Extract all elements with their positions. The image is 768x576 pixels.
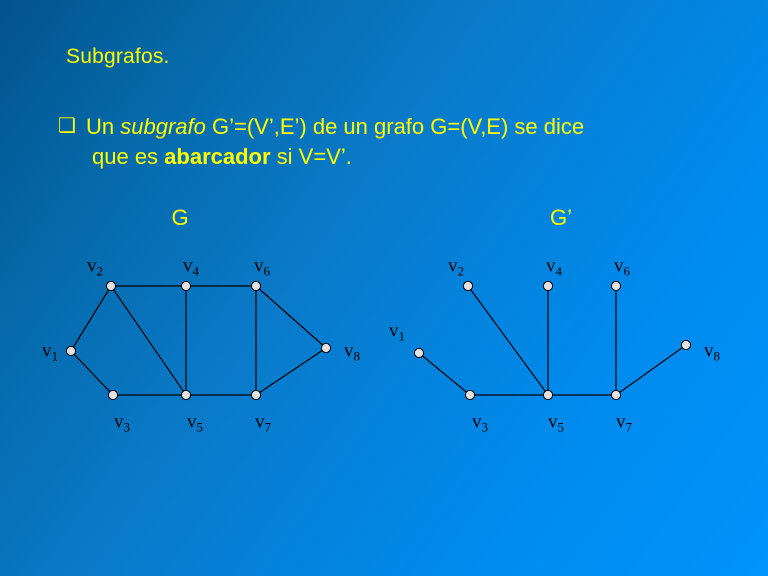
- node-label-subscript: 1: [52, 348, 59, 363]
- node-label-subscript: 5: [558, 419, 565, 434]
- graph-G-caption: G: [171, 207, 188, 229]
- graph-node-v2[interactable]: [463, 281, 472, 290]
- node-label-v1: v1: [42, 342, 58, 361]
- node-label-subscript: 7: [265, 419, 272, 434]
- graph-node-v3[interactable]: [108, 390, 117, 399]
- node-label-v2: v2: [87, 257, 103, 276]
- node-label-v7: v7: [255, 413, 271, 432]
- node-label-base: v: [548, 412, 558, 433]
- graph-node-v8[interactable]: [321, 343, 330, 352]
- graph-node-v5[interactable]: [181, 390, 190, 399]
- graph-edge: [71, 351, 113, 395]
- node-label-v4: v4: [546, 257, 562, 276]
- graph-G-prime-nodes: [414, 281, 690, 399]
- graph-node-v6[interactable]: [251, 281, 260, 290]
- graph-node-v1[interactable]: [414, 348, 423, 357]
- node-label-subscript: 7: [626, 419, 633, 434]
- node-label-base: v: [472, 412, 482, 433]
- node-label-v6: v6: [614, 257, 630, 276]
- graph-node-v1[interactable]: [66, 346, 75, 355]
- graph-node-v8[interactable]: [681, 340, 690, 349]
- node-label-base: v: [255, 412, 265, 433]
- graph-edge: [111, 286, 186, 395]
- graph-node-v6[interactable]: [611, 281, 620, 290]
- node-label-base: v: [448, 256, 458, 277]
- graph-layer: Gv1v2v3v4v5v6v7v8G’v1v2v3v4v5v6v7v8: [0, 0, 768, 576]
- node-label-v3: v3: [472, 413, 488, 432]
- node-label-v6: v6: [254, 257, 270, 276]
- node-label-v5: v5: [187, 413, 203, 432]
- node-label-subscript: 1: [399, 328, 406, 343]
- graph-node-v4[interactable]: [181, 281, 190, 290]
- graph-node-v5[interactable]: [543, 390, 552, 399]
- node-label-subscript: 3: [482, 419, 489, 434]
- node-label-subscript: 8: [354, 348, 361, 363]
- graph-node-v3[interactable]: [465, 390, 474, 399]
- node-label-base: v: [614, 256, 624, 277]
- graph-G-nodes: [66, 281, 330, 399]
- graph-node-v7[interactable]: [611, 390, 620, 399]
- node-label-subscript: 2: [97, 263, 104, 278]
- graph-edges-svg: [0, 0, 768, 576]
- node-label-base: v: [546, 256, 556, 277]
- node-label-subscript: 4: [193, 263, 200, 278]
- node-label-base: v: [254, 256, 264, 277]
- graph-node-v4[interactable]: [543, 281, 552, 290]
- graph-G-edges: [71, 286, 326, 395]
- node-label-subscript: 8: [714, 348, 721, 363]
- node-label-v7: v7: [616, 413, 632, 432]
- node-label-base: v: [616, 412, 626, 433]
- node-label-v8: v8: [344, 342, 360, 361]
- node-label-v8: v8: [704, 342, 720, 361]
- node-label-subscript: 4: [556, 263, 563, 278]
- graph-G-prime-edges: [419, 286, 686, 395]
- slide-canvas: Subgrafos. ❑ Un subgrafo G’=(V’,E’) de u…: [0, 0, 768, 576]
- node-label-base: v: [87, 256, 97, 277]
- node-label-base: v: [704, 341, 714, 362]
- node-label-base: v: [389, 321, 399, 342]
- node-label-subscript: 2: [458, 263, 465, 278]
- node-label-v3: v3: [114, 413, 130, 432]
- node-label-subscript: 5: [197, 419, 204, 434]
- graph-edge: [256, 348, 326, 395]
- node-label-v5: v5: [548, 413, 564, 432]
- node-label-base: v: [114, 412, 124, 433]
- node-label-v1: v1: [389, 322, 405, 341]
- node-label-base: v: [344, 341, 354, 362]
- graph-edge: [256, 286, 326, 348]
- node-label-v4: v4: [183, 257, 199, 276]
- graph-edge: [616, 345, 686, 395]
- graph-edge: [71, 286, 111, 351]
- node-label-base: v: [183, 256, 193, 277]
- node-label-base: v: [187, 412, 197, 433]
- graph-node-v7[interactable]: [251, 390, 260, 399]
- graph-edge: [419, 353, 470, 395]
- node-label-subscript: 3: [124, 419, 131, 434]
- node-label-subscript: 6: [264, 263, 271, 278]
- node-label-v2: v2: [448, 257, 464, 276]
- graph-edge: [468, 286, 548, 395]
- graph-node-v2[interactable]: [106, 281, 115, 290]
- node-label-base: v: [42, 341, 52, 362]
- graph-G-prime-caption: G’: [550, 207, 572, 229]
- node-label-subscript: 6: [624, 263, 631, 278]
